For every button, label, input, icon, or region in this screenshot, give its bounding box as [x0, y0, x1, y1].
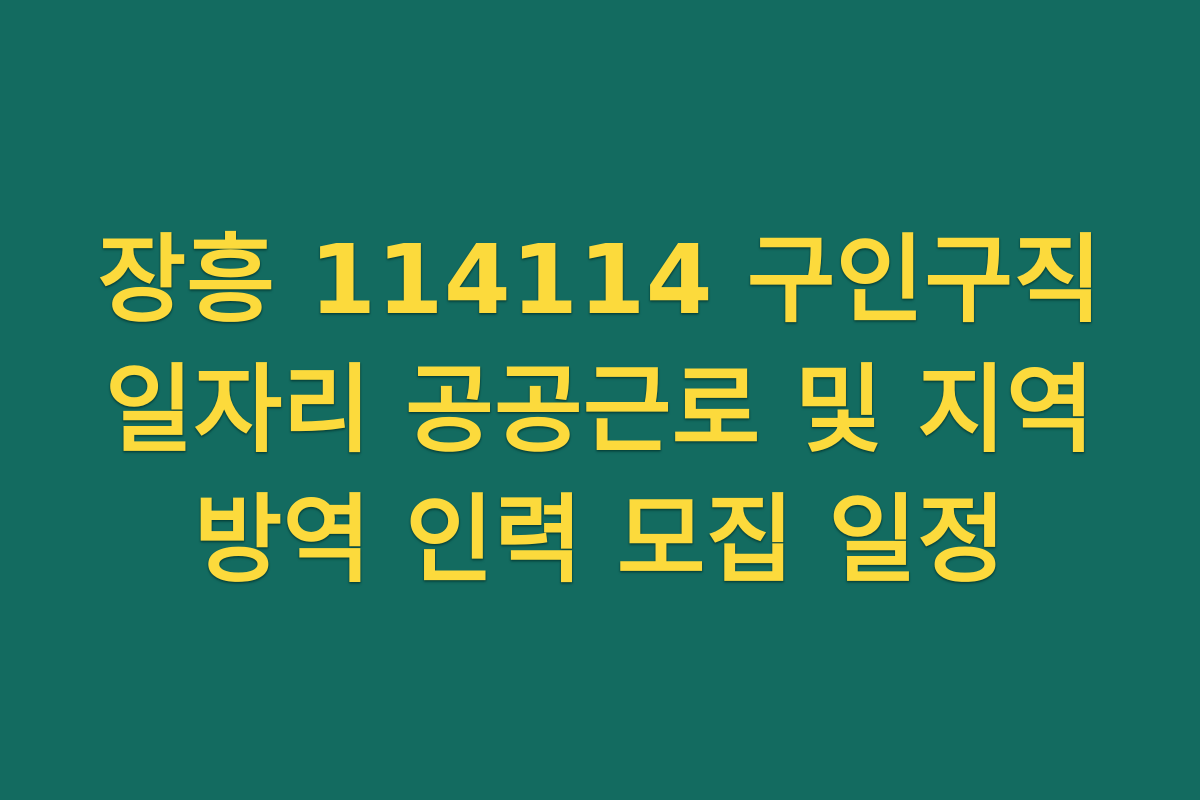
headline-line-1: 장흥 114114 구인구직 [0, 215, 1200, 345]
banner-canvas: 장흥 114114 구인구직 일자리 공공근로 및 지역 방역 인력 모집 일정 [0, 0, 1200, 800]
headline-text-block: 장흥 114114 구인구직 일자리 공공근로 및 지역 방역 인력 모집 일정 [0, 215, 1200, 605]
headline-line-3: 방역 인력 모집 일정 [0, 475, 1200, 605]
headline-line-2: 일자리 공공근로 및 지역 [0, 345, 1200, 475]
